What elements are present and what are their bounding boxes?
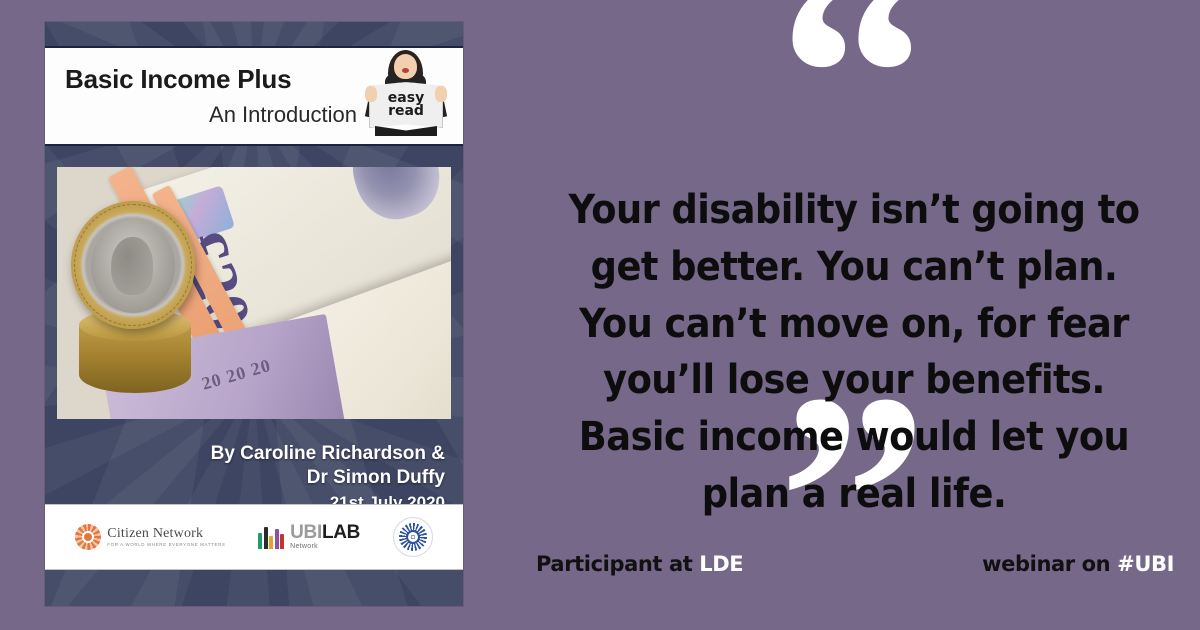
cover-title-subtitle: An Introduction — [65, 103, 363, 126]
book-cover-image: Basic Income Plus An Introduction easy r… — [45, 22, 463, 606]
ubi-lab-subtitle: Network — [290, 544, 360, 551]
attribution-right-plain: webinar on — [982, 552, 1117, 576]
banknote-portrait — [341, 167, 451, 229]
cover-title-band: Basic Income Plus An Introduction easy r… — [45, 46, 463, 146]
easy-read-left-hand-shape — [365, 86, 377, 102]
quote-text: Your disability isn’t going to get bette… — [550, 182, 1157, 523]
citizen-network-wordmark: Citizen Network FOR A WORLD WHERE EVERYO… — [107, 527, 225, 548]
ubi-lab-bar-purple — [275, 529, 279, 549]
ubi-lab-bar-yellow — [269, 536, 273, 549]
pound-coin-stack — [71, 201, 211, 401]
easy-read-book-text: easy read — [388, 92, 424, 118]
pound-coin-portrait — [91, 219, 175, 313]
easy-read-right-hand-shape — [435, 86, 447, 102]
pound-coin-front — [71, 201, 195, 329]
ubi-lab-word: UBILAB — [290, 524, 360, 542]
ubi-lab-bar-black — [264, 527, 268, 549]
citizen-network-name: Citizen Network — [107, 527, 225, 541]
logo-citizen-network: Citizen Network FOR A WORLD WHERE EVERYO… — [75, 524, 225, 550]
easy-read-mouth-shape — [402, 68, 409, 73]
easy-read-badge-icon: easy read — [363, 52, 449, 140]
ubi-lab-word-ubi: UBI — [290, 522, 322, 543]
logo-ubi-lab-network: UBILAB Network — [258, 523, 360, 551]
cover-title-text-group: Basic Income Plus An Introduction — [65, 66, 363, 125]
ubi-lab-icon — [258, 523, 284, 551]
attribution-right-highlight: #UBI — [1117, 552, 1174, 576]
citizen-network-icon — [75, 524, 101, 550]
quote-panel: “ Your disability isn’t going to get bet… — [500, 0, 1200, 630]
quote-attribution: Participant at LDE webinar on #UBI — [536, 552, 1174, 576]
attribution-left-highlight: LDE — [699, 552, 743, 576]
centre-welfare-reform-icon — [393, 517, 433, 557]
easy-read-open-book-icon: easy read — [369, 82, 443, 128]
easy-read-book-base-shape — [375, 126, 437, 136]
ubi-lab-wordmark: UBILAB Network — [290, 524, 360, 551]
ubi-lab-bar-red — [280, 534, 284, 549]
cover-title-main: Basic Income Plus — [65, 66, 363, 93]
ubi-lab-bar-green — [258, 533, 262, 549]
logo-centre-for-welfare-reform — [393, 517, 433, 557]
cover-author-line-1: By Caroline Richardson & — [211, 442, 445, 466]
centre-welfare-reform-ring — [399, 523, 427, 551]
attribution-right: webinar on #UBI — [982, 552, 1174, 576]
easy-read-text-line2: read — [388, 105, 424, 118]
social-quote-card: Basic Income Plus An Introduction easy r… — [0, 0, 1200, 630]
cover-logo-band: Citizen Network FOR A WORLD WHERE EVERYO… — [45, 504, 463, 570]
attribution-left-plain: Participant at — [536, 552, 699, 576]
cover-money-photograph: £20 £10 20 20 20 — [57, 167, 451, 419]
cover-author-line-2: Dr Simon Duffy — [211, 466, 445, 490]
attribution-left: Participant at LDE — [536, 552, 743, 576]
easy-read-head-shape — [394, 54, 417, 79]
ubi-lab-word-lab: LAB — [322, 522, 360, 543]
citizen-network-tagline: FOR A WORLD WHERE EVERYONE MATTERS — [107, 543, 225, 548]
cover-author-block: By Caroline Richardson & Dr Simon Duffy … — [211, 442, 445, 513]
